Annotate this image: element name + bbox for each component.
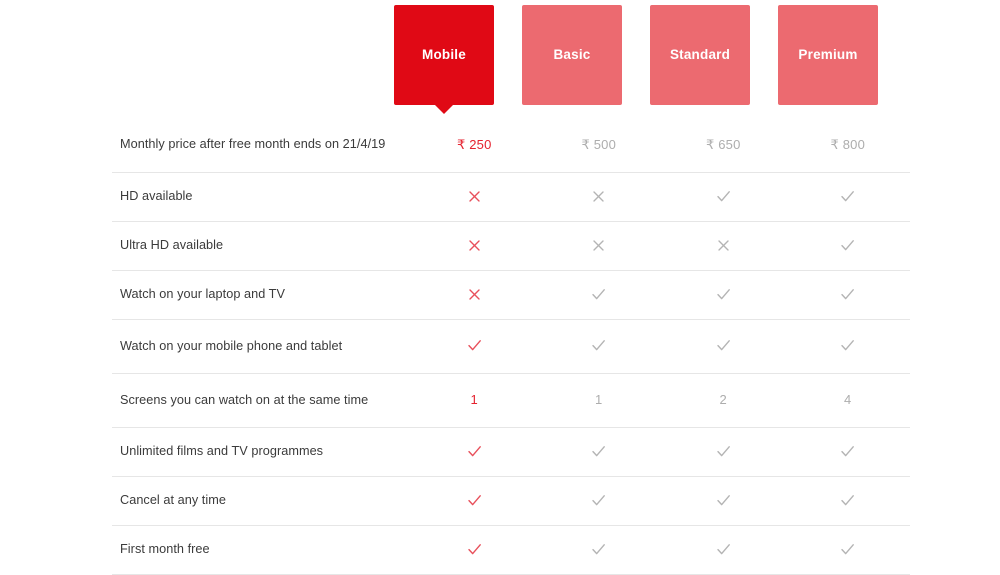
plan-comparison-table: Monthly price after free month ends on 2… [112, 118, 910, 575]
check-icon [839, 337, 856, 354]
cell-watch-mobile-tablet-premium [786, 319, 911, 373]
plan-tiles-row: MobileBasicStandardPremium [0, 0, 1000, 118]
value-text: 2 [720, 392, 727, 407]
table-row: First month free [112, 525, 910, 574]
value-text: 1 [595, 392, 602, 407]
cell-first-month-free-mobile [412, 525, 537, 574]
check-icon [590, 541, 607, 558]
cell-watch-mobile-tablet-standard [661, 319, 786, 373]
value-text: ₹ 650 [706, 137, 741, 152]
table-row: Ultra HD available [112, 221, 910, 270]
check-icon [839, 492, 856, 509]
check-icon [466, 337, 483, 354]
plan-tile-basic[interactable]: Basic [522, 5, 622, 105]
cell-hd-available-basic [537, 172, 662, 221]
cell-hd-available-premium [786, 172, 911, 221]
plan-tile-standard[interactable]: Standard [650, 5, 750, 105]
cell-watch-laptop-tv-basic [537, 270, 662, 319]
cell-ultra-hd-available-basic [537, 221, 662, 270]
cross-icon [466, 286, 483, 303]
table-row: Watch on your laptop and TV [112, 270, 910, 319]
value-text: 1 [471, 392, 478, 407]
cell-simultaneous-screens-mobile: 1 [412, 373, 537, 427]
check-icon [839, 188, 856, 205]
selected-plan-pointer-icon [435, 105, 453, 114]
feature-label-monthly-price: Monthly price after free month ends on 2… [112, 118, 412, 172]
cell-watch-mobile-tablet-mobile [412, 319, 537, 373]
feature-label-watch-mobile-tablet: Watch on your mobile phone and tablet [112, 319, 412, 373]
check-icon [466, 492, 483, 509]
cell-watch-laptop-tv-standard [661, 270, 786, 319]
cell-ultra-hd-available-standard [661, 221, 786, 270]
check-icon [715, 337, 732, 354]
feature-label-cancel-any-time: Cancel at any time [112, 476, 412, 525]
cell-simultaneous-screens-standard: 2 [661, 373, 786, 427]
cell-simultaneous-screens-basic: 1 [537, 373, 662, 427]
cell-monthly-price-premium: ₹ 800 [786, 118, 911, 172]
cell-unlimited-films-tv-mobile [412, 427, 537, 476]
cell-watch-laptop-tv-mobile [412, 270, 537, 319]
plan-tile-mobile[interactable]: Mobile [394, 5, 494, 105]
feature-label-hd-available: HD available [112, 172, 412, 221]
check-icon [715, 492, 732, 509]
check-icon [839, 541, 856, 558]
table-row: Unlimited films and TV programmes [112, 427, 910, 476]
cell-hd-available-standard [661, 172, 786, 221]
check-icon [466, 443, 483, 460]
table-row: HD available [112, 172, 910, 221]
feature-label-simultaneous-screens: Screens you can watch on at the same tim… [112, 373, 412, 427]
cell-monthly-price-mobile: ₹ 250 [412, 118, 537, 172]
plan-comparison-body: Monthly price after free month ends on 2… [112, 118, 910, 574]
cell-first-month-free-standard [661, 525, 786, 574]
check-icon [839, 286, 856, 303]
value-text: 4 [844, 392, 851, 407]
cell-ultra-hd-available-mobile [412, 221, 537, 270]
plan-tile-premium[interactable]: Premium [778, 5, 878, 105]
cross-icon [715, 237, 732, 254]
check-icon [590, 337, 607, 354]
table-row: Watch on your mobile phone and tablet [112, 319, 910, 373]
cell-hd-available-mobile [412, 172, 537, 221]
check-icon [715, 541, 732, 558]
cell-ultra-hd-available-premium [786, 221, 911, 270]
check-icon [715, 188, 732, 205]
check-icon [839, 237, 856, 254]
cell-unlimited-films-tv-basic [537, 427, 662, 476]
check-icon [590, 492, 607, 509]
cell-unlimited-films-tv-premium [786, 427, 911, 476]
cell-simultaneous-screens-premium: 4 [786, 373, 911, 427]
cell-watch-laptop-tv-premium [786, 270, 911, 319]
value-text: ₹ 800 [830, 137, 865, 152]
cell-cancel-any-time-premium [786, 476, 911, 525]
feature-label-watch-laptop-tv: Watch on your laptop and TV [112, 270, 412, 319]
cell-monthly-price-basic: ₹ 500 [537, 118, 662, 172]
cell-monthly-price-standard: ₹ 650 [661, 118, 786, 172]
check-icon [466, 541, 483, 558]
plan-comparison-page: MobileBasicStandardPremium Monthly price… [0, 0, 1000, 560]
value-text: ₹ 500 [581, 137, 616, 152]
table-row: Monthly price after free month ends on 2… [112, 118, 910, 172]
table-row: Screens you can watch on at the same tim… [112, 373, 910, 427]
cross-icon [590, 188, 607, 205]
cell-cancel-any-time-basic [537, 476, 662, 525]
cross-icon [466, 237, 483, 254]
cell-first-month-free-premium [786, 525, 911, 574]
cell-cancel-any-time-standard [661, 476, 786, 525]
plan-tile-label: Standard [670, 48, 730, 62]
check-icon [715, 443, 732, 460]
check-icon [839, 443, 856, 460]
check-icon [590, 443, 607, 460]
cell-watch-mobile-tablet-basic [537, 319, 662, 373]
feature-label-ultra-hd-available: Ultra HD available [112, 221, 412, 270]
cell-unlimited-films-tv-standard [661, 427, 786, 476]
cross-icon [466, 188, 483, 205]
check-icon [590, 286, 607, 303]
plan-tile-label: Mobile [422, 48, 466, 62]
check-icon [715, 286, 732, 303]
cell-cancel-any-time-mobile [412, 476, 537, 525]
value-text: ₹ 250 [457, 137, 492, 152]
feature-label-first-month-free: First month free [112, 525, 412, 574]
table-row: Cancel at any time [112, 476, 910, 525]
cross-icon [590, 237, 607, 254]
plan-tile-label: Basic [553, 48, 590, 62]
plan-tile-label: Premium [798, 48, 857, 62]
cell-first-month-free-basic [537, 525, 662, 574]
feature-label-unlimited-films-tv: Unlimited films and TV programmes [112, 427, 412, 476]
